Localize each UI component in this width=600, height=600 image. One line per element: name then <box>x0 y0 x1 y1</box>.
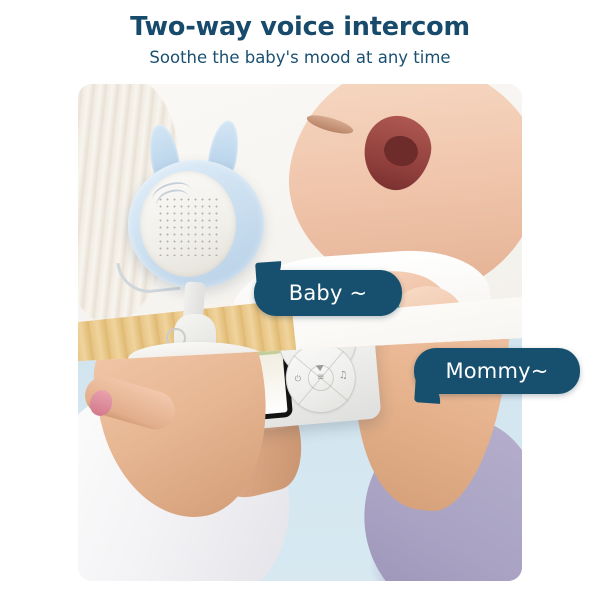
camera-speaker-grille <box>157 196 219 256</box>
page-subtitle: Soothe the baby's mood at any time <box>0 48 600 68</box>
photo-collage: OK ⏻ ≋ ♫ <box>78 84 522 581</box>
music-note-icon[interactable]: ♫ <box>338 371 348 382</box>
header: Two-way voice intercom Soothe the baby's… <box>0 0 600 68</box>
speech-bubble-mommy-text: Mommy~ <box>445 359 548 383</box>
talk-icon[interactable]: ≋ <box>317 373 325 383</box>
speech-bubble-baby: Baby ~ <box>254 270 402 316</box>
arrow-down-icon[interactable] <box>316 365 324 372</box>
camera-body <box>128 160 264 288</box>
bubble-tail <box>255 261 283 289</box>
photo-baby-with-camera <box>78 84 522 384</box>
bubble-tail <box>414 376 442 404</box>
speech-bubble-mommy: Mommy~ <box>414 348 580 394</box>
page-title: Two-way voice intercom <box>0 12 600 42</box>
power-icon[interactable]: ⏻ <box>294 375 301 384</box>
speech-bubble-baby-text: Baby ~ <box>289 281 368 305</box>
promo-page: Two-way voice intercom Soothe the baby's… <box>0 0 600 600</box>
baby-camera-unit <box>122 132 270 362</box>
camera-front-face <box>140 171 236 277</box>
